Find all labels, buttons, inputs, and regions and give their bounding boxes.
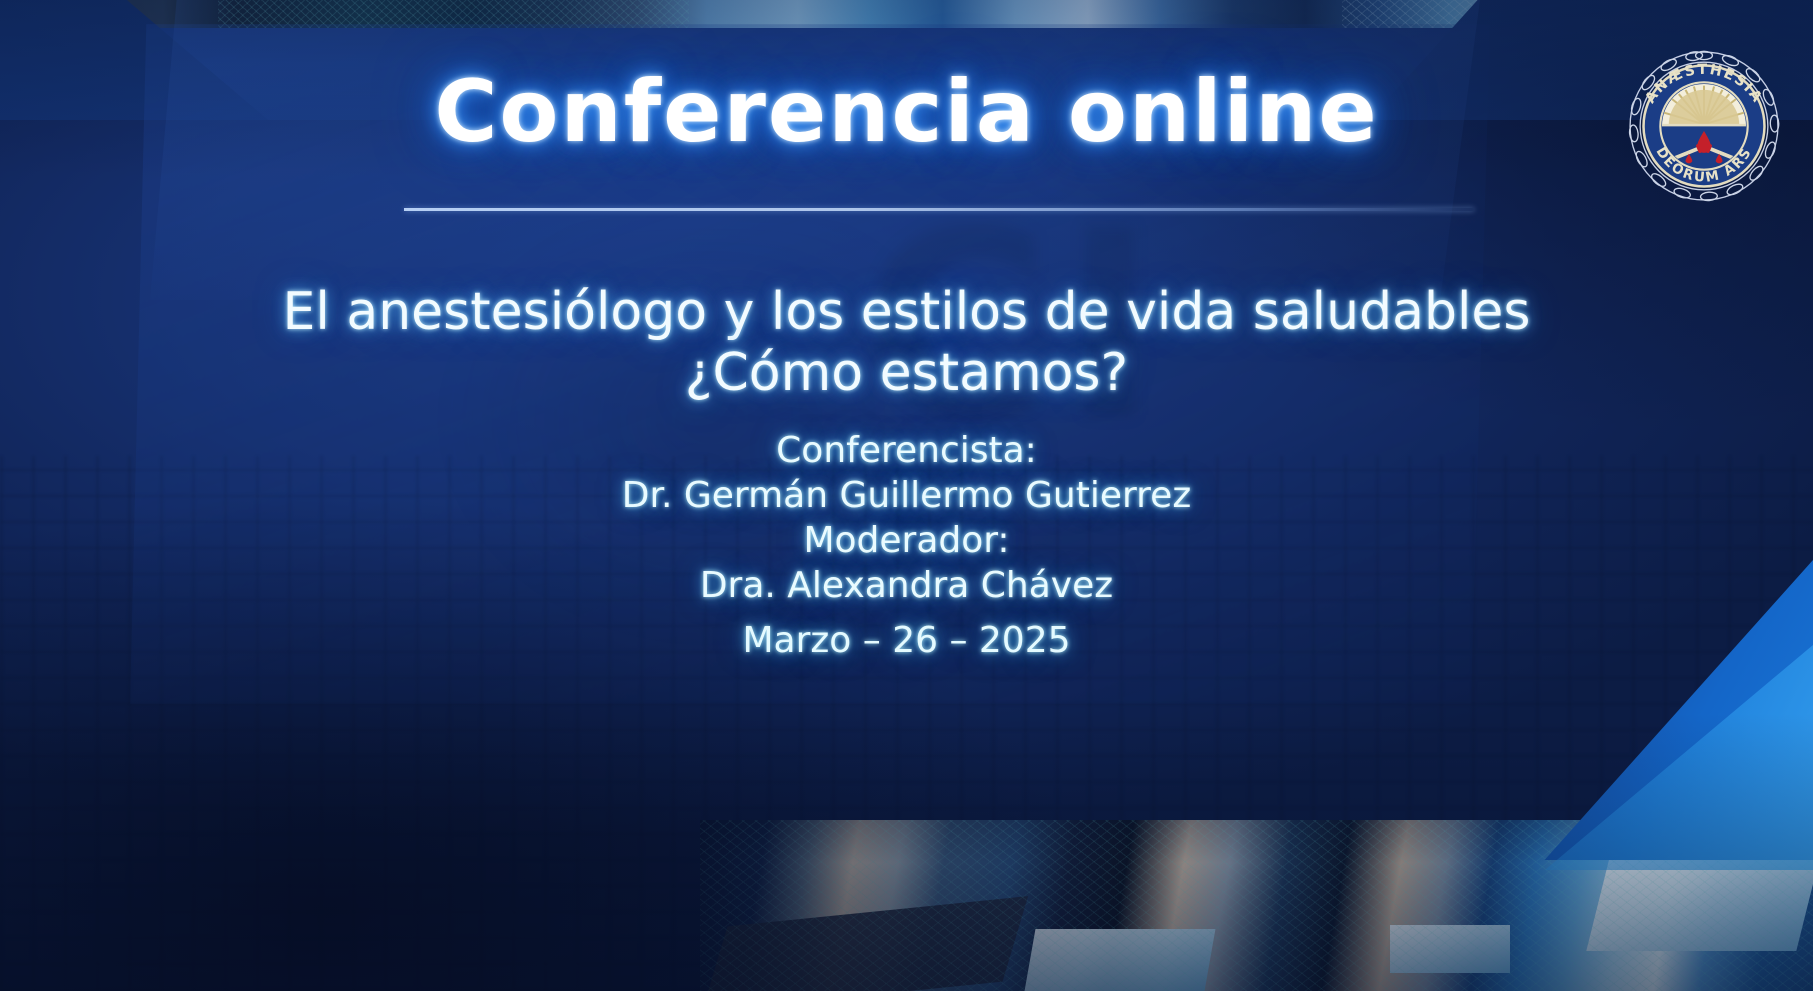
subtitle-line-2: ¿Cómo estamos? [0,343,1813,404]
anaesthesia-society-logo: ANÆSTHESIA DEORUM ARS [1620,42,1788,210]
subtitle-line-1: El anestesiólogo y los estilos de vida s… [283,282,1531,342]
event-date: Marzo – 26 – 2025 [0,620,1813,661]
slide-title: Conferencia online [0,62,1813,162]
slide-subtitle: El anestesiólogo y los estilos de vida s… [0,282,1813,405]
speaker-name: Dr. Germán Guillermo Gutierrez [0,473,1813,518]
moderator-name: Dra. Alexandra Chávez [0,563,1813,608]
title-underline-rule [404,208,1474,211]
credits-block: Conferencista: Dr. Germán Guillermo Guti… [0,428,1813,608]
moderator-label: Moderador: [0,518,1813,563]
speaker-label: Conferencista: [0,428,1813,473]
presentation-slide: CI Conferencia online El anestesiólogo y… [0,0,1813,991]
